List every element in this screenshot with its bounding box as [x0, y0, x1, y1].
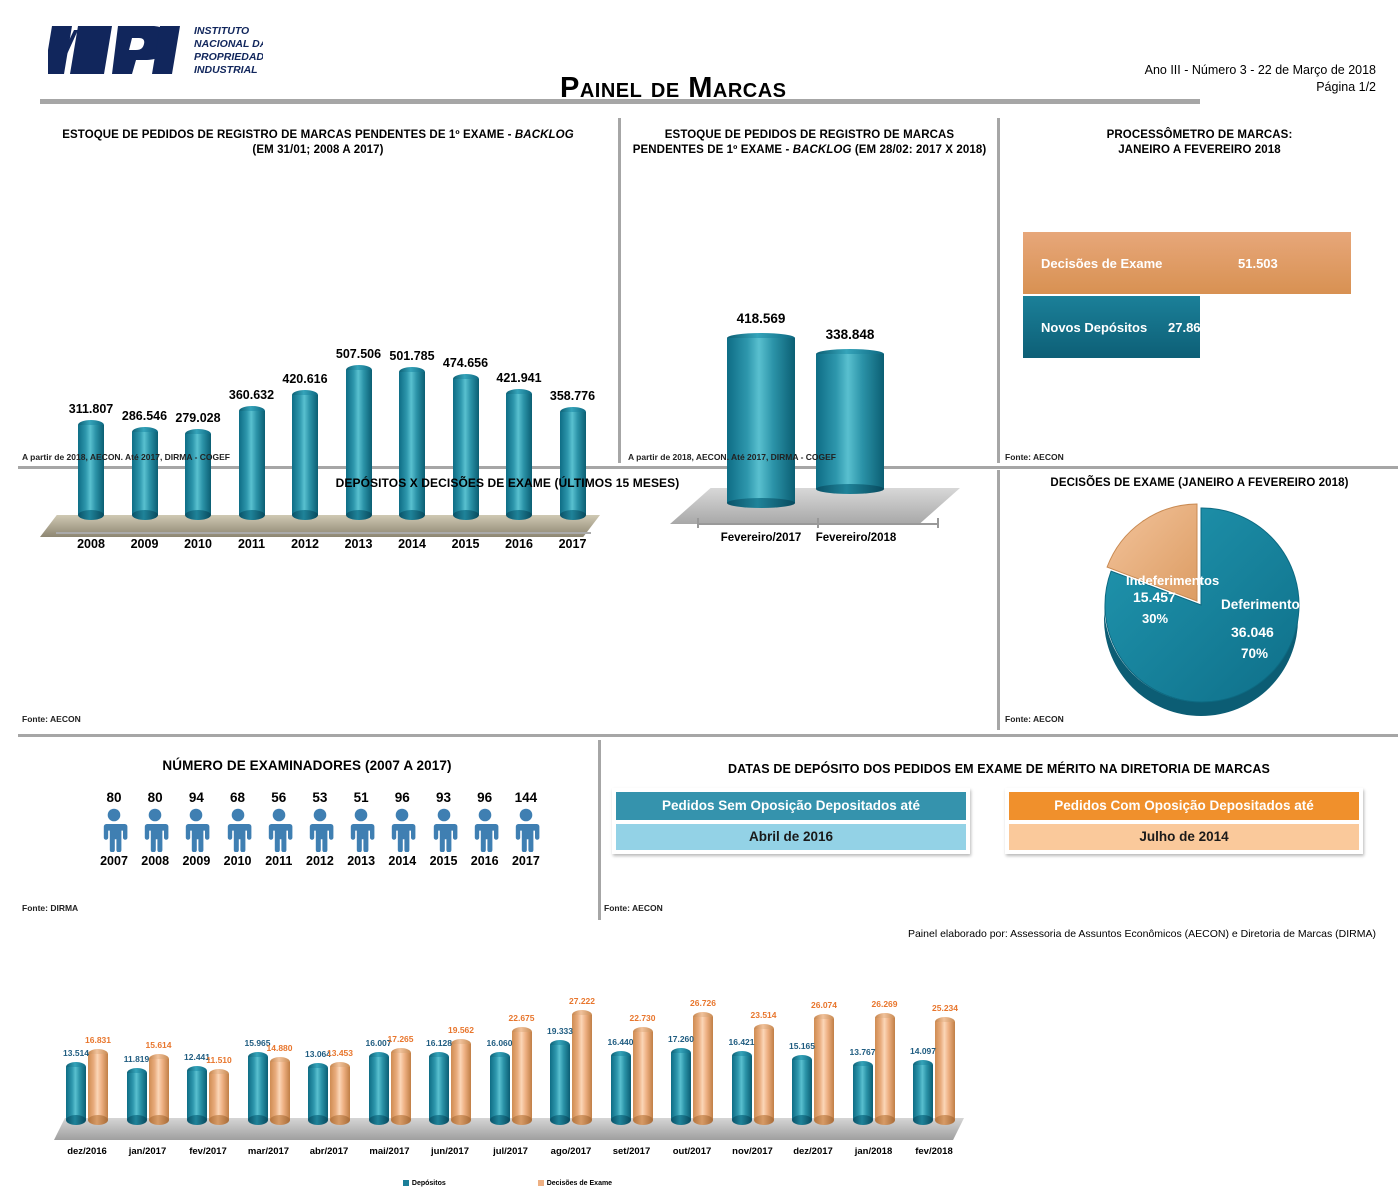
examiner-year: 2011 — [260, 854, 298, 868]
chart4-x-label: abr/2017 — [294, 1146, 364, 1157]
divider-horizontal-1 — [18, 466, 1398, 469]
bar-value-label: 16.831 — [76, 1035, 120, 1045]
chart4-x-label: jan/2018 — [839, 1146, 909, 1157]
chart4-x-label: jun/2017 — [415, 1146, 485, 1157]
divider-horizontal-2 — [18, 734, 1398, 737]
examiner-count: 96 — [383, 790, 421, 805]
chart4-x-label: set/2017 — [597, 1146, 667, 1157]
legend-item-decisoes: Decisões de Exame — [538, 1180, 612, 1187]
issue-line: Ano III - Número 3 - 22 de Março de 2018 — [1145, 62, 1376, 79]
examiner-year: 2014 — [383, 854, 421, 868]
bar-cylinder — [732, 1051, 752, 1125]
panel-pie-source: Fonte: AECON — [1005, 714, 1064, 724]
chart4-x-label: out/2017 — [657, 1146, 727, 1157]
bar-cylinder — [369, 1052, 389, 1125]
examiner-count: 53 — [301, 790, 339, 805]
examiner-count: 68 — [219, 790, 257, 805]
chart4-x-label: mai/2017 — [355, 1146, 425, 1157]
examiner-count: 56 — [260, 790, 298, 805]
pie-label-indeferimentos: Indeferimentos — [1126, 573, 1219, 588]
panel-backlog-feb-title-l1: ESTOQUE DE PEDIDOS DE REGISTRO DE MARCAS — [665, 129, 954, 141]
panel-dates-source: Fonte: AECON — [604, 903, 663, 913]
bar-value-label: 19.333 — [538, 1026, 582, 1036]
bar-value-label: 358.776 — [538, 389, 608, 403]
panel-decisoes-pie: DECISÕES DE EXAME (JANEIRO A FEVEREIRO 2… — [1001, 470, 1398, 730]
bar-value-label: 19.562 — [439, 1025, 483, 1035]
bar-cylinder — [66, 1062, 86, 1125]
person-icon — [140, 808, 170, 852]
chart4-x-label: fev/2017 — [173, 1146, 243, 1157]
header-issue-info: Ano III - Número 3 - 22 de Março de 2018… — [1145, 62, 1376, 96]
bar-value-label: 27.222 — [560, 996, 604, 1006]
legend-swatch-decisoes — [538, 1180, 544, 1186]
panel-dates-title: DATAS DE DEPÓSITO DOS PEDIDOS EM EXAME D… — [600, 762, 1398, 777]
bar-cylinder — [853, 1061, 873, 1125]
bar-cylinder — [308, 1063, 328, 1125]
pie-percent-indeferimentos: 30% — [1142, 611, 1168, 626]
bar-value-label: 16.128 — [417, 1038, 461, 1048]
bar-cylinder — [935, 1017, 955, 1125]
inpi-logo-svg: INSTITUTO NACIONAL DA PROPRIEDADE INDUST… — [48, 20, 263, 82]
legend-item-depositos: Depósitos — [403, 1180, 446, 1187]
panel-monthly-source: Fonte: AECON — [22, 714, 81, 724]
panel-backlog-fevereiro: ESTOQUE DE PEDIDOS DE REGISTRO DE MARCAS… — [622, 118, 997, 463]
panel-processometro-title: PROCESSÔMETRO DE MARCAS: JANEIRO A FEVER… — [1001, 128, 1398, 158]
panel-backlog-year-title-l2: (EM 31/01; 2008 A 2017) — [252, 144, 383, 156]
bar-cylinder — [88, 1049, 108, 1125]
logo-line-3: PROPRIEDADE — [194, 51, 263, 63]
person-icon — [387, 808, 417, 852]
bar-cylinder — [792, 1055, 812, 1125]
bar-value-label: 11.510 — [197, 1055, 241, 1065]
pie-value-deferimentos: 36.046 — [1231, 624, 1274, 640]
panel-backlog-feb-title-italic: BACKLOG — [793, 144, 852, 156]
panel-backlog-feb-title-l2b: (EM 28/02: 2017 X 2018) — [852, 144, 987, 156]
person-icon — [264, 808, 294, 852]
examiner-year: 2009 — [177, 854, 215, 868]
examiner-count: 93 — [425, 790, 463, 805]
processometro-label: Decisões de Exame — [1041, 256, 1162, 271]
bar-value-label: 360.632 — [217, 388, 287, 402]
chart4-x-label: nov/2017 — [718, 1146, 788, 1157]
bar-cylinder — [270, 1057, 290, 1125]
panel-backlog-year-title-italic: BACKLOG — [515, 129, 574, 141]
bar-value-label: 16.440 — [599, 1037, 643, 1047]
chart4-x-label: mar/2017 — [234, 1146, 304, 1157]
examiner-year: 2016 — [466, 854, 504, 868]
date-card-sem-oposicao[interactable]: Pedidos Sem Oposição Depositados até Abr… — [612, 788, 970, 854]
bar-value-label: 14.097 — [901, 1046, 945, 1056]
person-icon — [470, 808, 500, 852]
logo-line-2: NACIONAL DA — [194, 38, 263, 50]
panel-backlog-year-source: A partir de 2018, AECON. Até 2017, DIRMA… — [22, 452, 230, 462]
bar-value-label: 23.514 — [742, 1010, 786, 1020]
person-icon — [511, 808, 541, 852]
date-card-com-oposicao-body: Julho de 2014 — [1009, 824, 1359, 850]
examiner-year-cell: 802008 — [136, 790, 174, 868]
bar-cylinder — [611, 1051, 631, 1125]
examiner-count: 80 — [95, 790, 133, 805]
person-icon — [346, 808, 376, 852]
pie-value-indeferimentos: 15.457 — [1133, 589, 1176, 605]
legend-label-decisoes: Decisões de Exame — [547, 1180, 612, 1187]
processometro-value: 27.864 — [1168, 320, 1208, 335]
examiner-year-cell: 942009 — [177, 790, 215, 868]
panel-pie-title: DECISÕES DE EXAME (JANEIRO A FEVEREIRO 2… — [1001, 476, 1398, 491]
bar-value-label: 13.514 — [54, 1048, 98, 1058]
examiner-year: 2013 — [342, 854, 380, 868]
divider-vertical-3 — [997, 470, 1000, 730]
bar-value-label: 26.269 — [863, 999, 907, 1009]
bar-cylinder — [451, 1039, 471, 1125]
bar-cylinder — [248, 1052, 268, 1125]
bar-value-label: 421.941 — [484, 371, 554, 385]
bar-value-label: 26.726 — [681, 998, 725, 1008]
examiner-year-cell: 562011 — [260, 790, 298, 868]
bar-value-label: 15.165 — [780, 1041, 824, 1051]
pie-label-deferimentos: Deferimentos — [1221, 597, 1307, 612]
bar-cylinder — [429, 1052, 449, 1125]
panel-examiners-title: NÚMERO DE EXAMINADORES (2007 A 2017) — [18, 758, 596, 773]
examiner-year: 2008 — [136, 854, 174, 868]
examiner-count: 96 — [466, 790, 504, 805]
logo-line-4: INDUSTRIAL — [194, 64, 258, 76]
chart4-x-label: ago/2017 — [536, 1146, 606, 1157]
logo-line-1: INSTITUTO — [194, 25, 249, 37]
bar-value-label: 15.614 — [137, 1040, 181, 1050]
examiner-year-cell: 512013 — [342, 790, 380, 868]
panel-datas-deposito: DATAS DE DEPÓSITO DOS PEDIDOS EM EXAME D… — [600, 740, 1398, 920]
divider-vertical-1 — [618, 118, 621, 463]
processometro-value: 51.503 — [1238, 256, 1278, 271]
processometro-title-l1: PROCESSÔMETRO DE MARCAS: — [1107, 129, 1293, 141]
bar-value-label: 420.616 — [270, 372, 340, 386]
header-divider — [40, 99, 1200, 104]
bar-cylinder — [391, 1048, 411, 1125]
bar-cylinder — [671, 1048, 691, 1125]
date-card-com-oposicao-head: Pedidos Com Oposição Depositados até — [1009, 792, 1359, 820]
examiner-year: 2012 — [301, 854, 339, 868]
person-icon — [429, 808, 459, 852]
bar-cylinder — [913, 1060, 933, 1125]
legend-label-depositos: Depósitos — [412, 1180, 446, 1187]
panel-processometro: PROCESSÔMETRO DE MARCAS: JANEIRO A FEVER… — [1001, 118, 1398, 463]
bar-value-label: 11.819 — [115, 1054, 159, 1064]
panel-monthly-title: DEPÓSITOS X DECISÕES DE EXAME (ÚLTIMOS 1… — [18, 476, 997, 491]
person-icon — [223, 808, 253, 852]
examiner-year: 2015 — [425, 854, 463, 868]
chart4-x-label: jan/2017 — [113, 1146, 183, 1157]
examiners-pictogram-grid: 8020078020089420096820105620115320125120… — [95, 790, 545, 868]
bar-value-label: 22.730 — [621, 1013, 665, 1023]
bar-cylinder — [187, 1066, 207, 1125]
bar-value-label: 17.260 — [659, 1034, 703, 1044]
examiner-year-cell: 1442017 — [507, 790, 545, 868]
examiner-year: 2017 — [507, 854, 545, 868]
panel-examiners-source: Fonte: DIRMA — [22, 903, 78, 913]
pie-percent-deferimentos: 70% — [1241, 646, 1268, 661]
bar-cylinder — [875, 1013, 895, 1125]
bar-cylinder — [330, 1062, 350, 1125]
processometro-label: Novos Depósitos — [1041, 320, 1147, 335]
chart4-legend: Depósitos Decisões de Exame — [18, 1180, 997, 1187]
panel-processometro-source: Fonte: AECON — [1005, 452, 1064, 462]
examiner-count: 94 — [177, 790, 215, 805]
date-card-sem-oposicao-head: Pedidos Sem Oposição Depositados até — [616, 792, 966, 820]
bar-value-label: 14.880 — [258, 1043, 302, 1053]
examiner-count: 144 — [507, 790, 545, 805]
date-card-sem-oposicao-body: Abril de 2016 — [616, 824, 966, 850]
panel-backlog-feb-source: A partir de 2018, AECON. Até 2017, DIRMA… — [628, 452, 836, 462]
examiner-year-cell: 682010 — [219, 790, 257, 868]
bar-cylinder — [693, 1012, 713, 1125]
legend-swatch-depositos — [403, 1180, 409, 1186]
chart4-x-label: fev/2018 — [899, 1146, 969, 1157]
page-footer: Painel elaborado por: Assessoria de Assu… — [908, 928, 1376, 940]
bar-value-label: 418.569 — [697, 311, 825, 326]
chart4-x-label: dez/2017 — [778, 1146, 848, 1157]
person-icon — [181, 808, 211, 852]
bar-value-label: 17.265 — [379, 1034, 423, 1044]
processometro-bar-decisoes: Decisões de Exame51.503 — [1023, 232, 1351, 294]
examiner-count: 51 — [342, 790, 380, 805]
processometro-title-l2: JANEIRO A FEVEREIRO 2018 — [1118, 144, 1281, 156]
bar-cylinder — [127, 1068, 147, 1125]
panel-backlog-feb-title: ESTOQUE DE PEDIDOS DE REGISTRO DE MARCAS… — [622, 128, 997, 158]
panel-backlog-feb-title-l2a: PENDENTES DE 1º EXAME - — [633, 144, 793, 156]
inpi-logo: INSTITUTO NACIONAL DA PROPRIEDADE INDUST… — [48, 20, 263, 82]
bar-cylinder — [149, 1054, 169, 1125]
chart4-x-label: jul/2017 — [476, 1146, 546, 1157]
examiner-year: 2010 — [219, 854, 257, 868]
panel-depositos-x-decisoes: DEPÓSITOS X DECISÕES DE EXAME (ÚLTIMOS 1… — [18, 470, 997, 730]
bar-value-label: 13.767 — [841, 1047, 885, 1057]
bar-cylinder — [209, 1069, 229, 1125]
bar-cylinder — [814, 1014, 834, 1125]
person-icon — [305, 808, 335, 852]
examiner-year-cell: 932015 — [425, 790, 463, 868]
page-header: INSTITUTO NACIONAL DA PROPRIEDADE INDUST… — [0, 0, 1398, 112]
chart4-x-label: dez/2016 — [52, 1146, 122, 1157]
person-icon — [99, 808, 129, 852]
bar-value-label: 338.848 — [786, 327, 914, 342]
panel-backlog-year-title-l1: ESTOQUE DE PEDIDOS DE REGISTRO DE MARCAS… — [62, 129, 515, 141]
bar-value-label: 279.028 — [163, 411, 233, 425]
examiner-year-cell: 802007 — [95, 790, 133, 868]
page-number: Página 1/2 — [1145, 79, 1376, 96]
panel-backlog-year-title: ESTOQUE DE PEDIDOS DE REGISTRO DE MARCAS… — [18, 128, 618, 158]
examiner-year-cell: 532012 — [301, 790, 339, 868]
examiner-count: 80 — [136, 790, 174, 805]
bar-value-label: 25.234 — [923, 1003, 967, 1013]
bar-cylinder — [550, 1040, 570, 1125]
bar-value-label: 474.656 — [431, 356, 501, 370]
examiner-year: 2007 — [95, 854, 133, 868]
panel-backlog-por-ano: ESTOQUE DE PEDIDOS DE REGISTRO DE MARCAS… — [18, 118, 618, 463]
examiner-year-cell: 962014 — [383, 790, 421, 868]
painel-de-marcas-dashboard: INSTITUTO NACIONAL DA PROPRIEDADE INDUST… — [0, 0, 1398, 986]
divider-vertical-2 — [997, 118, 1000, 463]
examiner-year-cell: 962016 — [466, 790, 504, 868]
bar-cylinder — [490, 1052, 510, 1125]
bar-value-label: 26.074 — [802, 1000, 846, 1010]
bar-value-label: 16.060 — [478, 1038, 522, 1048]
bar-value-label: 13.453 — [318, 1048, 362, 1058]
bar-value-label: 22.675 — [500, 1013, 544, 1023]
pie-chart: Indeferimentos 15.457 30% Deferimentos 3… — [1086, 492, 1316, 720]
date-card-com-oposicao[interactable]: Pedidos Com Oposição Depositados até Jul… — [1005, 788, 1363, 854]
bar-value-label: 16.421 — [720, 1037, 764, 1047]
processometro-bar-depositos: Novos Depósitos27.864 — [1023, 296, 1200, 358]
